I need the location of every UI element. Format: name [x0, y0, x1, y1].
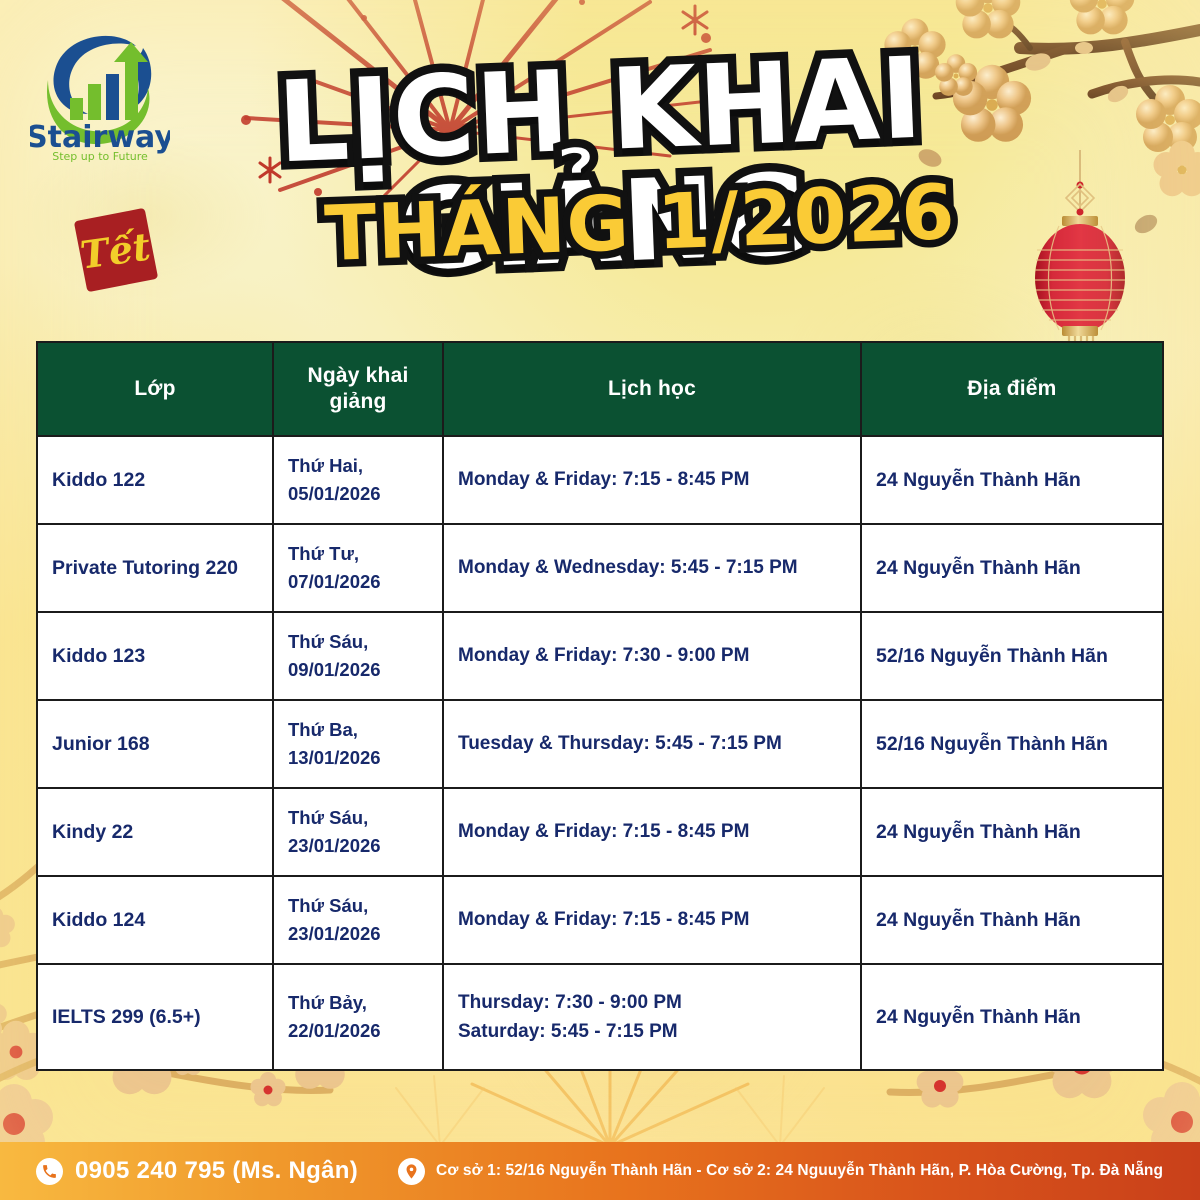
start-date: 23/01/2026 — [288, 922, 381, 947]
table-row: Kiddo 123 Thứ Sáu, 09/01/2026 Monday & F… — [38, 613, 1162, 701]
tet-badge: Tết — [62, 196, 170, 304]
cell-location: 24 Nguyễn Thành Hãn — [862, 525, 1162, 611]
cell-location: 24 Nguyễn Thành Hãn — [862, 965, 1162, 1069]
col-header-start-date: Ngày khai giảng — [274, 343, 444, 435]
tet-diamond-icon: Tết — [62, 196, 170, 304]
phone-icon — [36, 1158, 63, 1185]
cell-schedule: Thursday: 7:30 - 9:00 PM Saturday: 5:45 … — [444, 965, 862, 1069]
poster-title: LỊCH KHAI GIẢNG THÁNG 1/2026 — [175, 55, 1030, 310]
footer-address: Cơ sở 1: 52/16 Nguyễn Thành Hãn - Cơ sở … — [398, 1158, 1163, 1185]
map-pin-icon — [398, 1158, 425, 1185]
stairway-growth-circle-icon: Stairway Step up to Future — [30, 18, 170, 163]
start-day: Thứ Sáu, — [288, 806, 381, 831]
stairway-logo[interactable]: Stairway Step up to Future — [30, 18, 170, 163]
table-row: Kindy 22 Thứ Sáu, 23/01/2026 Monday & Fr… — [38, 789, 1162, 877]
cell-location: 52/16 Nguyễn Thành Hãn — [862, 613, 1162, 699]
cell-start-date: Thứ Bảy, 22/01/2026 — [274, 965, 444, 1069]
table-row: IELTS 299 (6.5+) Thứ Bảy, 22/01/2026 Thu… — [38, 965, 1162, 1069]
cell-class: Kiddo 122 — [38, 437, 274, 523]
start-date: 13/01/2026 — [288, 746, 381, 771]
cell-location: 52/16 Nguyễn Thành Hãn — [862, 701, 1162, 787]
cell-location: 24 Nguyễn Thành Hãn — [862, 877, 1162, 963]
poster-canvas: Stairway Step up to Future Tết LỊCH KHAI… — [0, 0, 1200, 1200]
start-day: Thứ Bảy, — [288, 991, 381, 1016]
cell-start-date: Thứ Sáu, 23/01/2026 — [274, 877, 444, 963]
col-header-location: Địa điểm — [862, 343, 1162, 435]
cell-class: Private Tutoring 220 — [38, 525, 274, 611]
contact-footer: 0905 240 795 (Ms. Ngân) Cơ sở 1: 52/16 N… — [0, 1142, 1200, 1200]
table-row: Kiddo 122 Thứ Hai, 05/01/2026 Monday & F… — [38, 437, 1162, 525]
cell-schedule: Tuesday & Thursday: 5:45 - 7:15 PM — [444, 701, 862, 787]
cell-location: 24 Nguyễn Thành Hãn — [862, 437, 1162, 523]
logo-tagline: Step up to Future — [52, 150, 148, 163]
cell-class: Junior 168 — [38, 701, 274, 787]
start-date: 05/01/2026 — [288, 482, 381, 507]
cell-class: Kiddo 124 — [38, 877, 274, 963]
address-text: Cơ sở 1: 52/16 Nguyễn Thành Hãn - Cơ sở … — [436, 1162, 1163, 1180]
cell-schedule: Monday & Wednesday: 5:45 - 7:15 PM — [444, 525, 862, 611]
cell-class: Kiddo 123 — [38, 613, 274, 699]
cell-schedule: Monday & Friday: 7:15 - 8:45 PM — [444, 877, 862, 963]
cell-location: 24 Nguyễn Thành Hãn — [862, 789, 1162, 875]
schedule-line-2: Saturday: 5:45 - 7:15 PM — [458, 1019, 682, 1045]
cell-start-date: Thứ Tư, 07/01/2026 — [274, 525, 444, 611]
table-header-row: Lớp Ngày khai giảng Lịch học Địa điểm — [38, 343, 1162, 437]
start-date: 07/01/2026 — [288, 570, 381, 595]
start-day: Thứ Hai, — [288, 454, 381, 479]
table-row: Junior 168 Thứ Ba, 13/01/2026 Tuesday & … — [38, 701, 1162, 789]
footer-phone[interactable]: 0905 240 795 (Ms. Ngân) — [36, 1157, 358, 1185]
cell-start-date: Thứ Sáu, 23/01/2026 — [274, 789, 444, 875]
cell-class: IELTS 299 (6.5+) — [38, 965, 274, 1069]
cell-schedule: Monday & Friday: 7:30 - 9:00 PM — [444, 613, 862, 699]
schedule-line-1: Thursday: 7:30 - 9:00 PM — [458, 990, 682, 1016]
class-schedule-table: Lớp Ngày khai giảng Lịch học Địa điểm Ki… — [36, 341, 1164, 1071]
cell-schedule: Monday & Friday: 7:15 - 8:45 PM — [444, 789, 862, 875]
phone-number: 0905 240 795 (Ms. Ngân) — [75, 1157, 358, 1185]
start-day: Thứ Ba, — [288, 718, 381, 743]
cell-class: Kindy 22 — [38, 789, 274, 875]
start-date: 09/01/2026 — [288, 658, 381, 683]
cell-start-date: Thứ Sáu, 09/01/2026 — [274, 613, 444, 699]
cell-start-date: Thứ Ba, 13/01/2026 — [274, 701, 444, 787]
start-date: 23/01/2026 — [288, 834, 381, 859]
start-date: 22/01/2026 — [288, 1019, 381, 1044]
col-header-schedule: Lịch học — [444, 343, 862, 435]
cell-start-date: Thứ Hai, 05/01/2026 — [274, 437, 444, 523]
start-day: Thứ Sáu, — [288, 630, 381, 655]
cell-schedule: Monday & Friday: 7:15 - 8:45 PM — [444, 437, 862, 523]
table-row: Kiddo 124 Thứ Sáu, 23/01/2026 Monday & F… — [38, 877, 1162, 965]
col-header-class: Lớp — [38, 343, 274, 435]
start-day: Thứ Tư, — [288, 542, 381, 567]
table-row: Private Tutoring 220 Thứ Tư, 07/01/2026 … — [38, 525, 1162, 613]
start-day: Thứ Sáu, — [288, 894, 381, 919]
